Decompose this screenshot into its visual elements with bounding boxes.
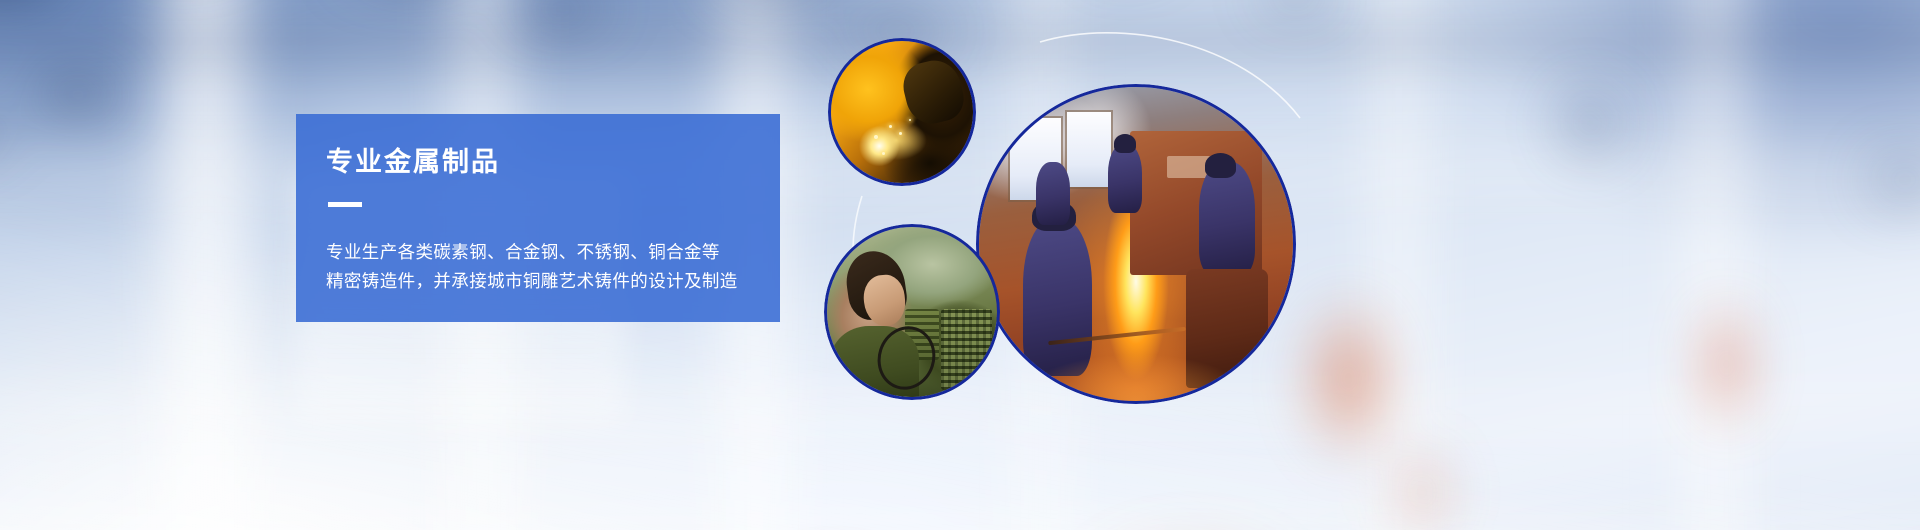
workshop-window: [1067, 112, 1111, 187]
worker-helmet: [1205, 153, 1236, 178]
worker-helmet: [1114, 134, 1136, 153]
spark-dot: [909, 119, 911, 121]
welding-sparks-photo: [828, 38, 976, 186]
title-divider: [328, 202, 362, 207]
assembly-worker-photo-image: [827, 227, 997, 397]
worker-figure: [1036, 162, 1071, 225]
worker-figure: [1108, 144, 1143, 213]
foundry-pour-photo: [976, 84, 1296, 404]
welding-sparks-photo-image: [831, 41, 973, 183]
promo-text-panel: 专业金属制品 专业生产各类碳素钢、合金钢、不锈钢、铜合金等 精密铸造件，并承接城…: [296, 114, 780, 322]
panel-description-line: 专业生产各类碳素钢、合金钢、不锈钢、铜合金等: [326, 238, 750, 266]
spark-dot: [874, 135, 878, 139]
parts-rack: [941, 309, 992, 391]
molten-floor-glow: [979, 275, 1293, 401]
foundry-pour-photo-image: [979, 87, 1293, 401]
spark-dot: [889, 125, 892, 128]
panel-description-line: 精密铸造件，并承接城市铜雕艺术铸件的设计及制造: [326, 267, 750, 295]
worker-figure: [1199, 162, 1256, 275]
promo-banner: 专业金属制品 专业生产各类碳素钢、合金钢、不锈钢、铜合金等 精密铸造件，并承接城…: [0, 0, 1920, 530]
foundry-pour-artwork: [979, 87, 1293, 401]
spark-dot: [882, 152, 885, 155]
panel-title: 专业金属制品: [326, 146, 750, 178]
assembly-worker-photo: [824, 224, 1000, 400]
panel-description: 专业生产各类碳素钢、合金钢、不锈钢、铜合金等 精密铸造件，并承接城市铜雕艺术铸件…: [326, 238, 750, 295]
assembly-worker-artwork: [827, 227, 997, 397]
spark-dot: [899, 132, 902, 135]
welding-sparks-artwork: [831, 41, 973, 183]
